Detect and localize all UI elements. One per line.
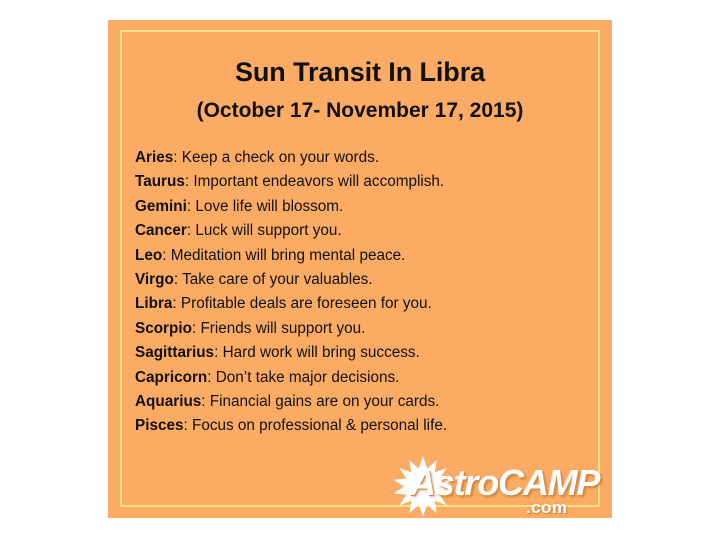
page-subtitle: (October 17- November 17, 2015): [108, 99, 612, 122]
sign-separator: :: [174, 271, 182, 288]
sign-name: Virgo: [135, 271, 174, 288]
list-item: Sagittarius: Hard work will bring succes…: [135, 341, 594, 365]
astrocamp-logo: AstroCAMP .com: [390, 457, 600, 517]
sign-prediction: Focus on professional & personal life.: [192, 417, 447, 434]
list-item: Gemini: Love life will blossom.: [135, 195, 594, 219]
list-item: Leo: Meditation will bring mental peace.: [135, 244, 594, 268]
sign-name: Sagittarius: [135, 344, 214, 361]
sign-separator: :: [162, 247, 171, 264]
list-item: Virgo: Take care of your valuables.: [135, 268, 594, 292]
sign-prediction: Financial gains are on your cards.: [210, 393, 440, 410]
sign-prediction: Don’t take major decisions.: [216, 369, 400, 386]
zodiac-sign-list: Aries: Keep a check on your words. Tauru…: [135, 146, 594, 439]
sign-name: Aries: [135, 149, 173, 166]
poster-root: Sun Transit In Libra (October 17- Novemb…: [0, 0, 720, 540]
sign-name: Taurus: [135, 173, 185, 190]
sign-prediction: Luck will support you.: [195, 222, 341, 239]
list-item: Aquarius: Financial gains are on your ca…: [135, 390, 594, 414]
sign-prediction: Friends will support you.: [200, 320, 365, 337]
sign-separator: :: [183, 417, 192, 434]
sign-name: Capricorn: [135, 369, 207, 386]
list-item: Aries: Keep a check on your words.: [135, 146, 594, 170]
list-item: Cancer: Luck will support you.: [135, 219, 594, 243]
page-title: Sun Transit In Libra: [108, 58, 612, 86]
sign-name: Cancer: [135, 222, 187, 239]
sign-separator: :: [172, 295, 181, 312]
sign-separator: :: [201, 393, 210, 410]
list-item: Capricorn: Don’t take major decisions.: [135, 366, 594, 390]
logo-tld: .com: [526, 498, 568, 518]
sign-separator: :: [214, 344, 223, 361]
sign-separator: :: [173, 149, 182, 166]
list-item: Libra: Profitable deals are foreseen for…: [135, 292, 594, 316]
list-item: Taurus: Important endeavors will accompl…: [135, 170, 594, 194]
sign-name: Libra: [135, 295, 172, 312]
sign-name: Scorpio: [135, 320, 192, 337]
sign-prediction: Love life will blossom.: [195, 198, 343, 215]
sign-prediction: Important endeavors will accomplish.: [193, 173, 444, 190]
sign-prediction: Meditation will bring mental peace.: [171, 247, 406, 264]
poster-panel: Sun Transit In Libra (October 17- Novemb…: [108, 20, 612, 518]
sign-prediction: Profitable deals are foreseen for you.: [181, 295, 432, 312]
sign-prediction: Hard work will bring success.: [223, 344, 420, 361]
sign-separator: :: [207, 369, 216, 386]
list-item: Scorpio: Friends will support you.: [135, 317, 594, 341]
sign-prediction: Take care of your valuables.: [182, 271, 372, 288]
sign-name: Pisces: [135, 417, 183, 434]
list-item: Pisces: Focus on professional & personal…: [135, 414, 594, 438]
sign-prediction: Keep a check on your words.: [182, 149, 379, 166]
poster-content: Sun Transit In Libra (October 17- Novemb…: [108, 20, 612, 518]
logo-wordmark: AstroCAMP: [410, 462, 599, 504]
sign-name: Gemini: [135, 198, 187, 215]
sign-name: Leo: [135, 247, 162, 264]
sign-name: Aquarius: [135, 393, 201, 410]
